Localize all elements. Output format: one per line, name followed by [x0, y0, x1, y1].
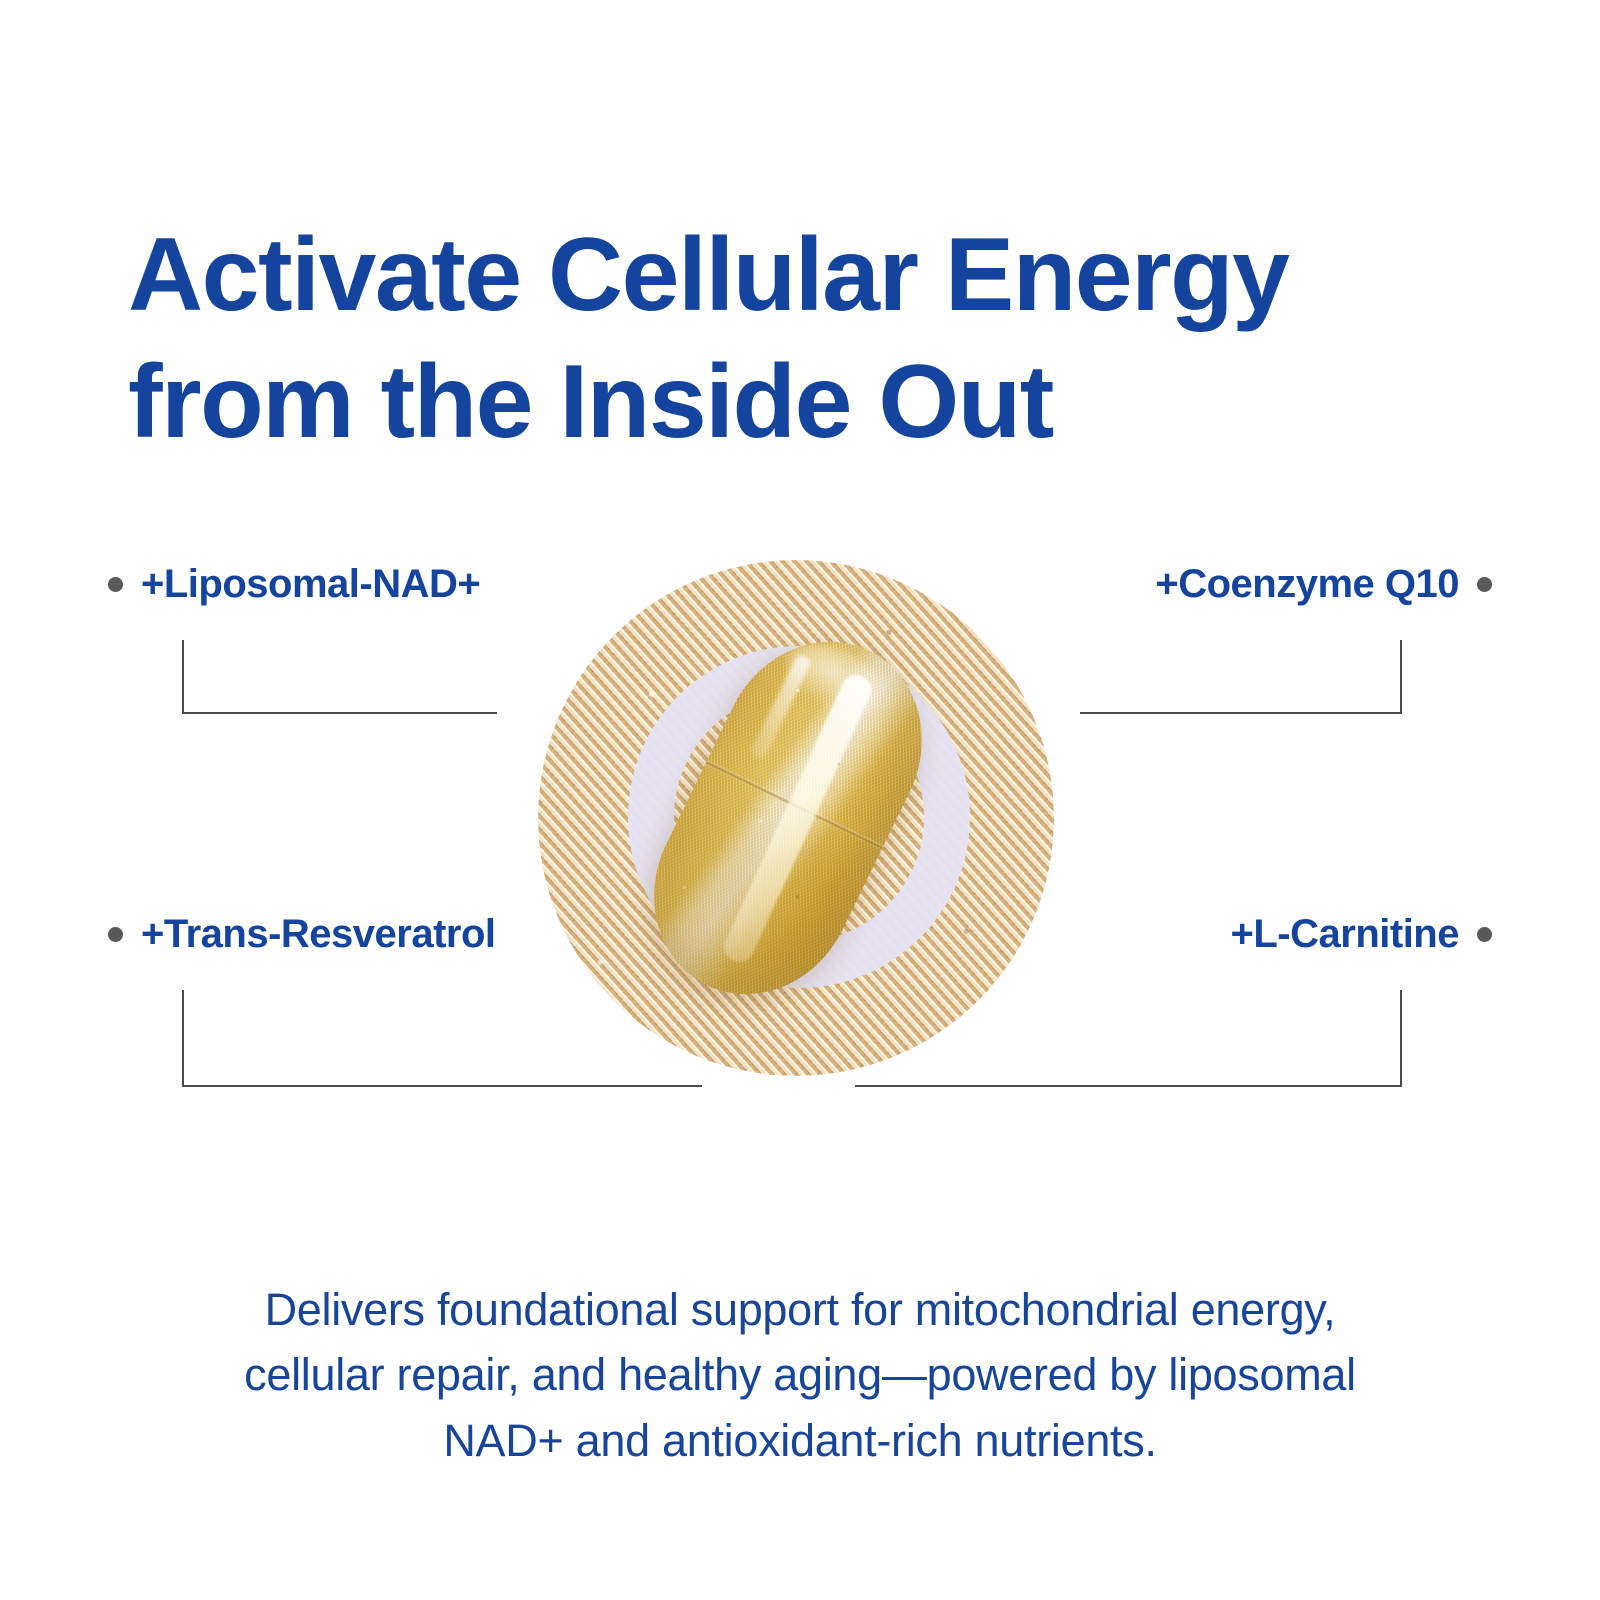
leader-line-coenzyme-q10: [1080, 640, 1402, 714]
bullet-dot-icon: [1477, 927, 1492, 942]
ingredient-label-text: +Coenzyme Q10: [1155, 562, 1459, 607]
ingredient-label-trans-resveratrol: +Trans-Resveratrol: [108, 912, 496, 957]
infographic-canvas: Activate Cellular Energy from the Inside…: [0, 0, 1600, 1600]
ingredient-label-coenzyme-q10: +Coenzyme Q10: [1155, 562, 1492, 607]
bullet-dot-icon: [108, 577, 123, 592]
bullet-dot-icon: [108, 927, 123, 942]
description-paragraph: Delivers foundational support for mitoch…: [150, 1277, 1450, 1473]
ingredient-label-l-carnitine: +L-Carnitine: [1231, 912, 1492, 957]
ingredient-label-text: +Liposomal-NAD+: [141, 562, 480, 607]
ingredient-label-text: +L-Carnitine: [1231, 912, 1459, 957]
bullet-dot-icon: [1477, 577, 1492, 592]
ingredient-label-text: +Trans-Resveratrol: [141, 912, 496, 957]
page-title: Activate Cellular Energy from the Inside…: [128, 212, 1488, 466]
product-image: [520, 548, 1090, 1108]
ingredient-label-liposomal-nad: +Liposomal-NAD+: [108, 562, 480, 607]
leader-line-liposomal-nad: [182, 640, 497, 714]
